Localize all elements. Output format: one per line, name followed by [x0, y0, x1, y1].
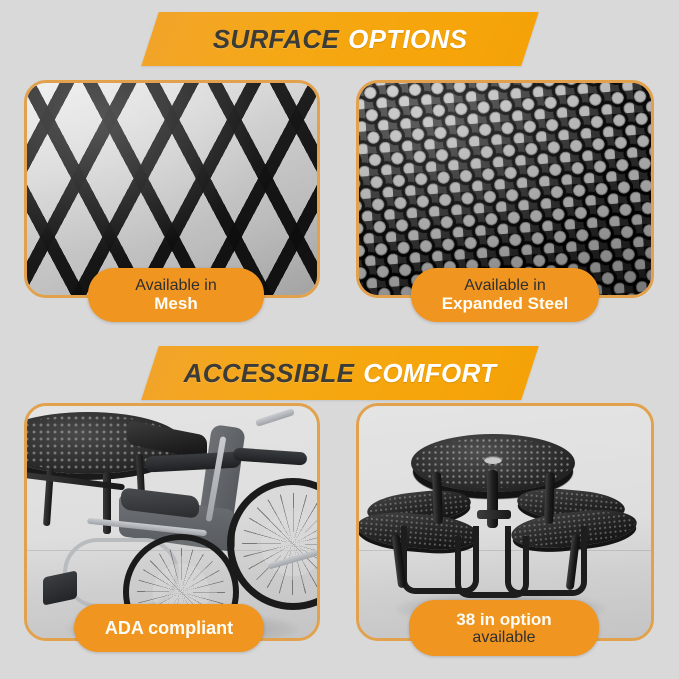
table-post-right	[544, 472, 555, 524]
pill-available-in-expanded-steel: Available in Expanded Steel	[411, 268, 599, 322]
banner-surface-options: SURFACE OPTIONS	[0, 12, 679, 66]
panel-expanded-steel	[356, 80, 654, 298]
pill-ada-compliant: ADA compliant	[74, 604, 264, 652]
umbrella-hole	[484, 456, 502, 464]
table-center-column	[487, 470, 498, 528]
table-center-hub	[477, 510, 511, 519]
table-post-left	[432, 472, 443, 524]
pill-38in-line-2: available	[472, 629, 535, 647]
banner-surface-options-word-2: OPTIONS	[348, 24, 467, 55]
wheelchair-rear-wheel-spokes	[242, 493, 317, 595]
banner-accessible-comfort-word-1: ACCESSIBLE	[184, 358, 355, 389]
banner-surface-options-word-1: SURFACE	[213, 24, 339, 55]
infographic-page: SURFACE OPTIONS Available in Mesh Availa…	[0, 0, 679, 679]
panel-mesh	[24, 80, 320, 298]
pill-expanded-steel-line-2: Expanded Steel	[442, 294, 569, 313]
mesh-texture-image	[27, 83, 317, 295]
perforated-hole-pattern	[359, 83, 651, 295]
table-u-leg-center	[455, 536, 529, 598]
pill-ada-compliant-line-1: ADA compliant	[105, 618, 233, 638]
pill-38in-option-available: 38 in option available	[409, 600, 599, 656]
pill-mesh-line-1: Available in	[135, 277, 217, 295]
mesh-diamond-pattern	[27, 83, 317, 295]
pill-38in-line-1: 38 in option	[456, 610, 551, 629]
banner-accessible-comfort-word-2: COMFORT	[363, 358, 496, 389]
banner-surface-options-text: SURFACE OPTIONS	[150, 12, 530, 66]
expanded-steel-texture-image	[359, 83, 651, 295]
banner-accessible-comfort-text: ACCESSIBLE COMFORT	[150, 346, 530, 400]
pill-available-in-mesh: Available in Mesh	[88, 268, 264, 322]
banner-accessible-comfort: ACCESSIBLE COMFORT	[0, 346, 679, 400]
pill-expanded-steel-line-1: Available in	[464, 277, 546, 295]
pill-mesh-line-2: Mesh	[154, 294, 197, 313]
